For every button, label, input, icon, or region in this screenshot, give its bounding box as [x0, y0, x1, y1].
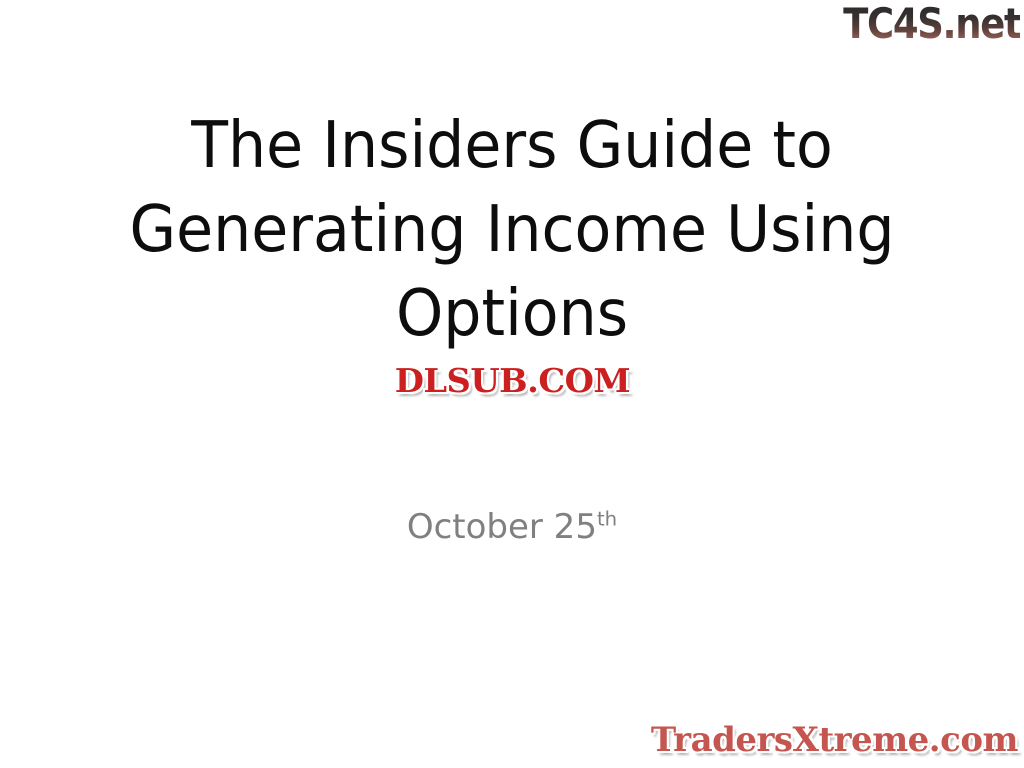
dlsub-com-watermark: DLSUB.COM	[0, 362, 1024, 400]
slide-title-line-2: Generating Income Using	[89, 188, 935, 272]
dlsub-com-watermark-text: DLSUB.COM	[394, 362, 629, 400]
slide-subtitle-date: October 25	[407, 507, 597, 547]
presentation-slide: TC4S.net The Insiders Guide to Generatin…	[0, 0, 1024, 768]
slide-subtitle: October 25th	[62, 505, 962, 549]
slide-title-line-3: Options	[89, 272, 935, 356]
slide-title-line-1: The Insiders Guide to	[89, 104, 935, 188]
slide-subtitle-ordinal-suffix: th	[597, 508, 617, 531]
slide-title: The Insiders Guide to Generating Income …	[62, 104, 962, 356]
tc4s-net-watermark-logo: TC4S.net	[843, 2, 1020, 46]
tradersxtreme-com-watermark: TradersXtreme.com	[651, 720, 1018, 760]
